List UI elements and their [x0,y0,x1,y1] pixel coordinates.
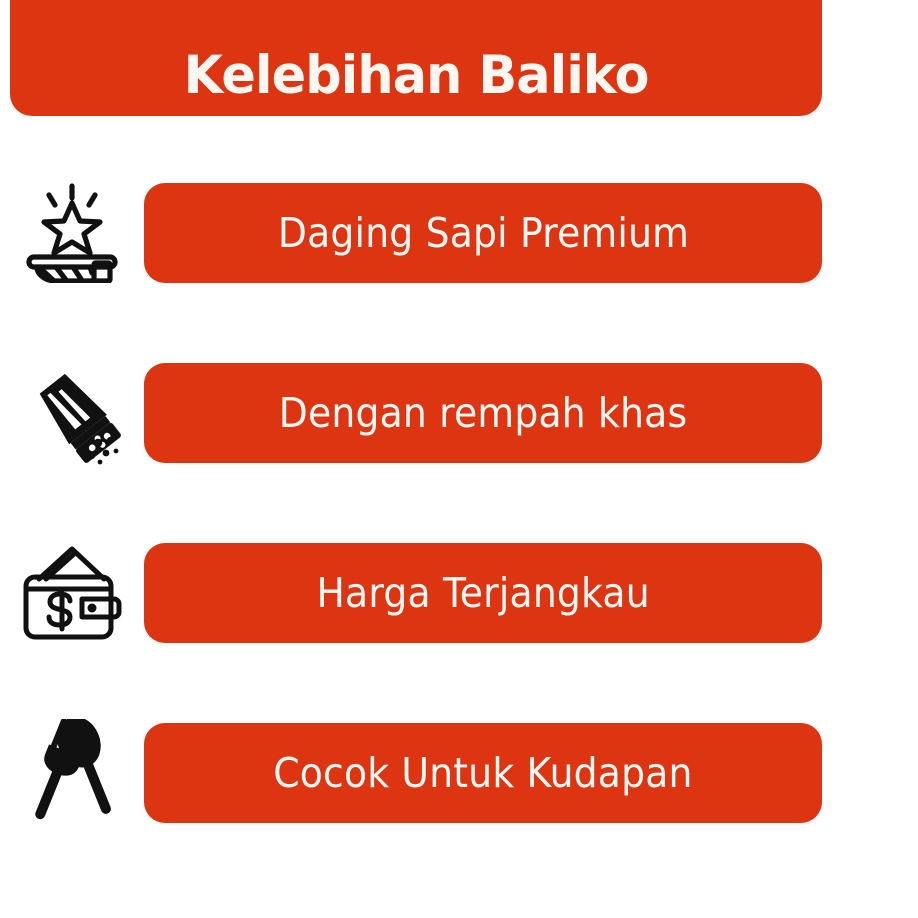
feature-pill[interactable]: Daging Sapi Premium [144,183,822,283]
feature-row: Harga Terjangkau [0,543,918,643]
salt-shaker-icon [0,363,144,463]
feature-row: Daging Sapi Premium [0,183,918,283]
page-title: Kelebihan Baliko [184,49,649,102]
header-banner: Kelebihan Baliko [10,0,822,116]
feature-label: Harga Terjangkau [316,573,649,614]
feature-label: Cocok Untuk Kudapan [273,753,692,794]
feature-label: Dengan rempah khas [279,393,688,434]
feature-row: Dengan rempah khas [0,363,918,463]
feature-row: Cocok Untuk Kudapan [0,723,918,823]
feature-pill[interactable]: Harga Terjangkau [144,543,822,643]
feature-label: Daging Sapi Premium [277,213,688,254]
wallet-dollar-icon [0,543,144,643]
feature-pill[interactable]: Dengan rempah khas [144,363,822,463]
feature-pill[interactable]: Cocok Untuk Kudapan [144,723,822,823]
feature-list-graphic: Kelebihan Baliko [0,0,918,918]
feature-rows: Daging Sapi Premium [0,183,918,823]
hand-tray-star-icon [0,183,144,283]
fork-spoon-crossed-icon [0,723,144,823]
